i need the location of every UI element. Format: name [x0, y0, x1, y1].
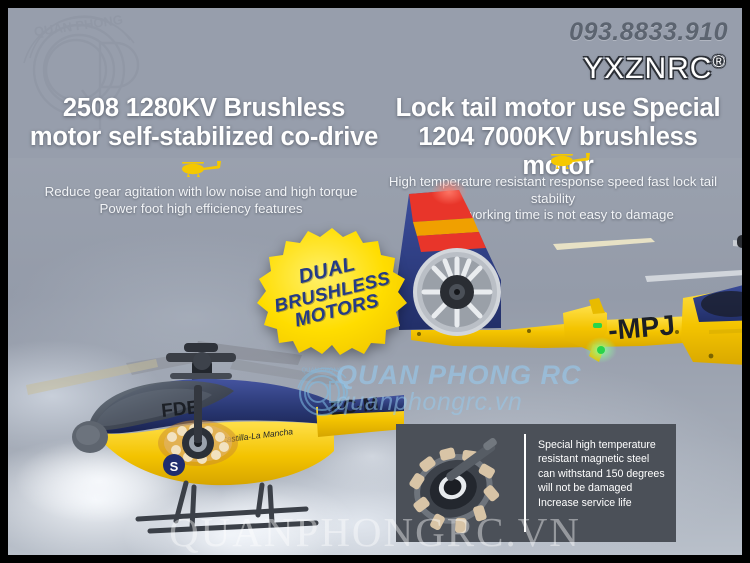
info-panel: Special high temperature resistant magne…: [396, 424, 676, 542]
helicopter-photo-left: FDE EC-M Castilla-La Mancha: [66, 333, 406, 533]
left-subtext: Reduce gear agitation with low noise and…: [12, 184, 390, 217]
product-promo-poster: QUAN PHONG 093.8833.910 YXZNRC® 2508 128…: [0, 0, 750, 563]
poster-canvas: QUAN PHONG 093.8833.910 YXZNRC® 2508 128…: [8, 8, 742, 555]
panel-divider: [524, 434, 526, 532]
right-boom-registration: -MPJ: [607, 309, 676, 346]
left-roundel: S: [170, 459, 179, 474]
phone-number: 093.8833.910: [569, 18, 728, 47]
helicopter-photo-right: -MPJ: [393, 180, 742, 395]
left-headline: 2508 1280KV Brushless motor self-stabili…: [18, 94, 390, 152]
brand-name: YXZNRC: [583, 52, 712, 85]
dual-brushless-motors-badge: DUAL BRUSHLESS MOTORS: [248, 226, 416, 356]
helicopter-divider-icon-left: [174, 156, 222, 178]
left-subtext-line1: Reduce gear agitation with low noise and…: [12, 184, 390, 201]
right-headline-line1: Lock tail motor use Special: [380, 94, 736, 123]
registered-mark: ®: [712, 52, 726, 71]
left-headline-line2: motor self-stabilized co-drive: [18, 123, 390, 152]
brand-logo: YXZNRC®: [583, 52, 726, 86]
motor-rotor-photo: [396, 430, 524, 538]
info-panel-text: Special high temperature resistant magne…: [538, 438, 666, 510]
left-headline-line1: 2508 1280KV Brushless: [18, 94, 390, 123]
helicopter-divider-icon-right: [543, 148, 591, 170]
left-subtext-line2: Power foot high efficiency features: [12, 201, 390, 218]
